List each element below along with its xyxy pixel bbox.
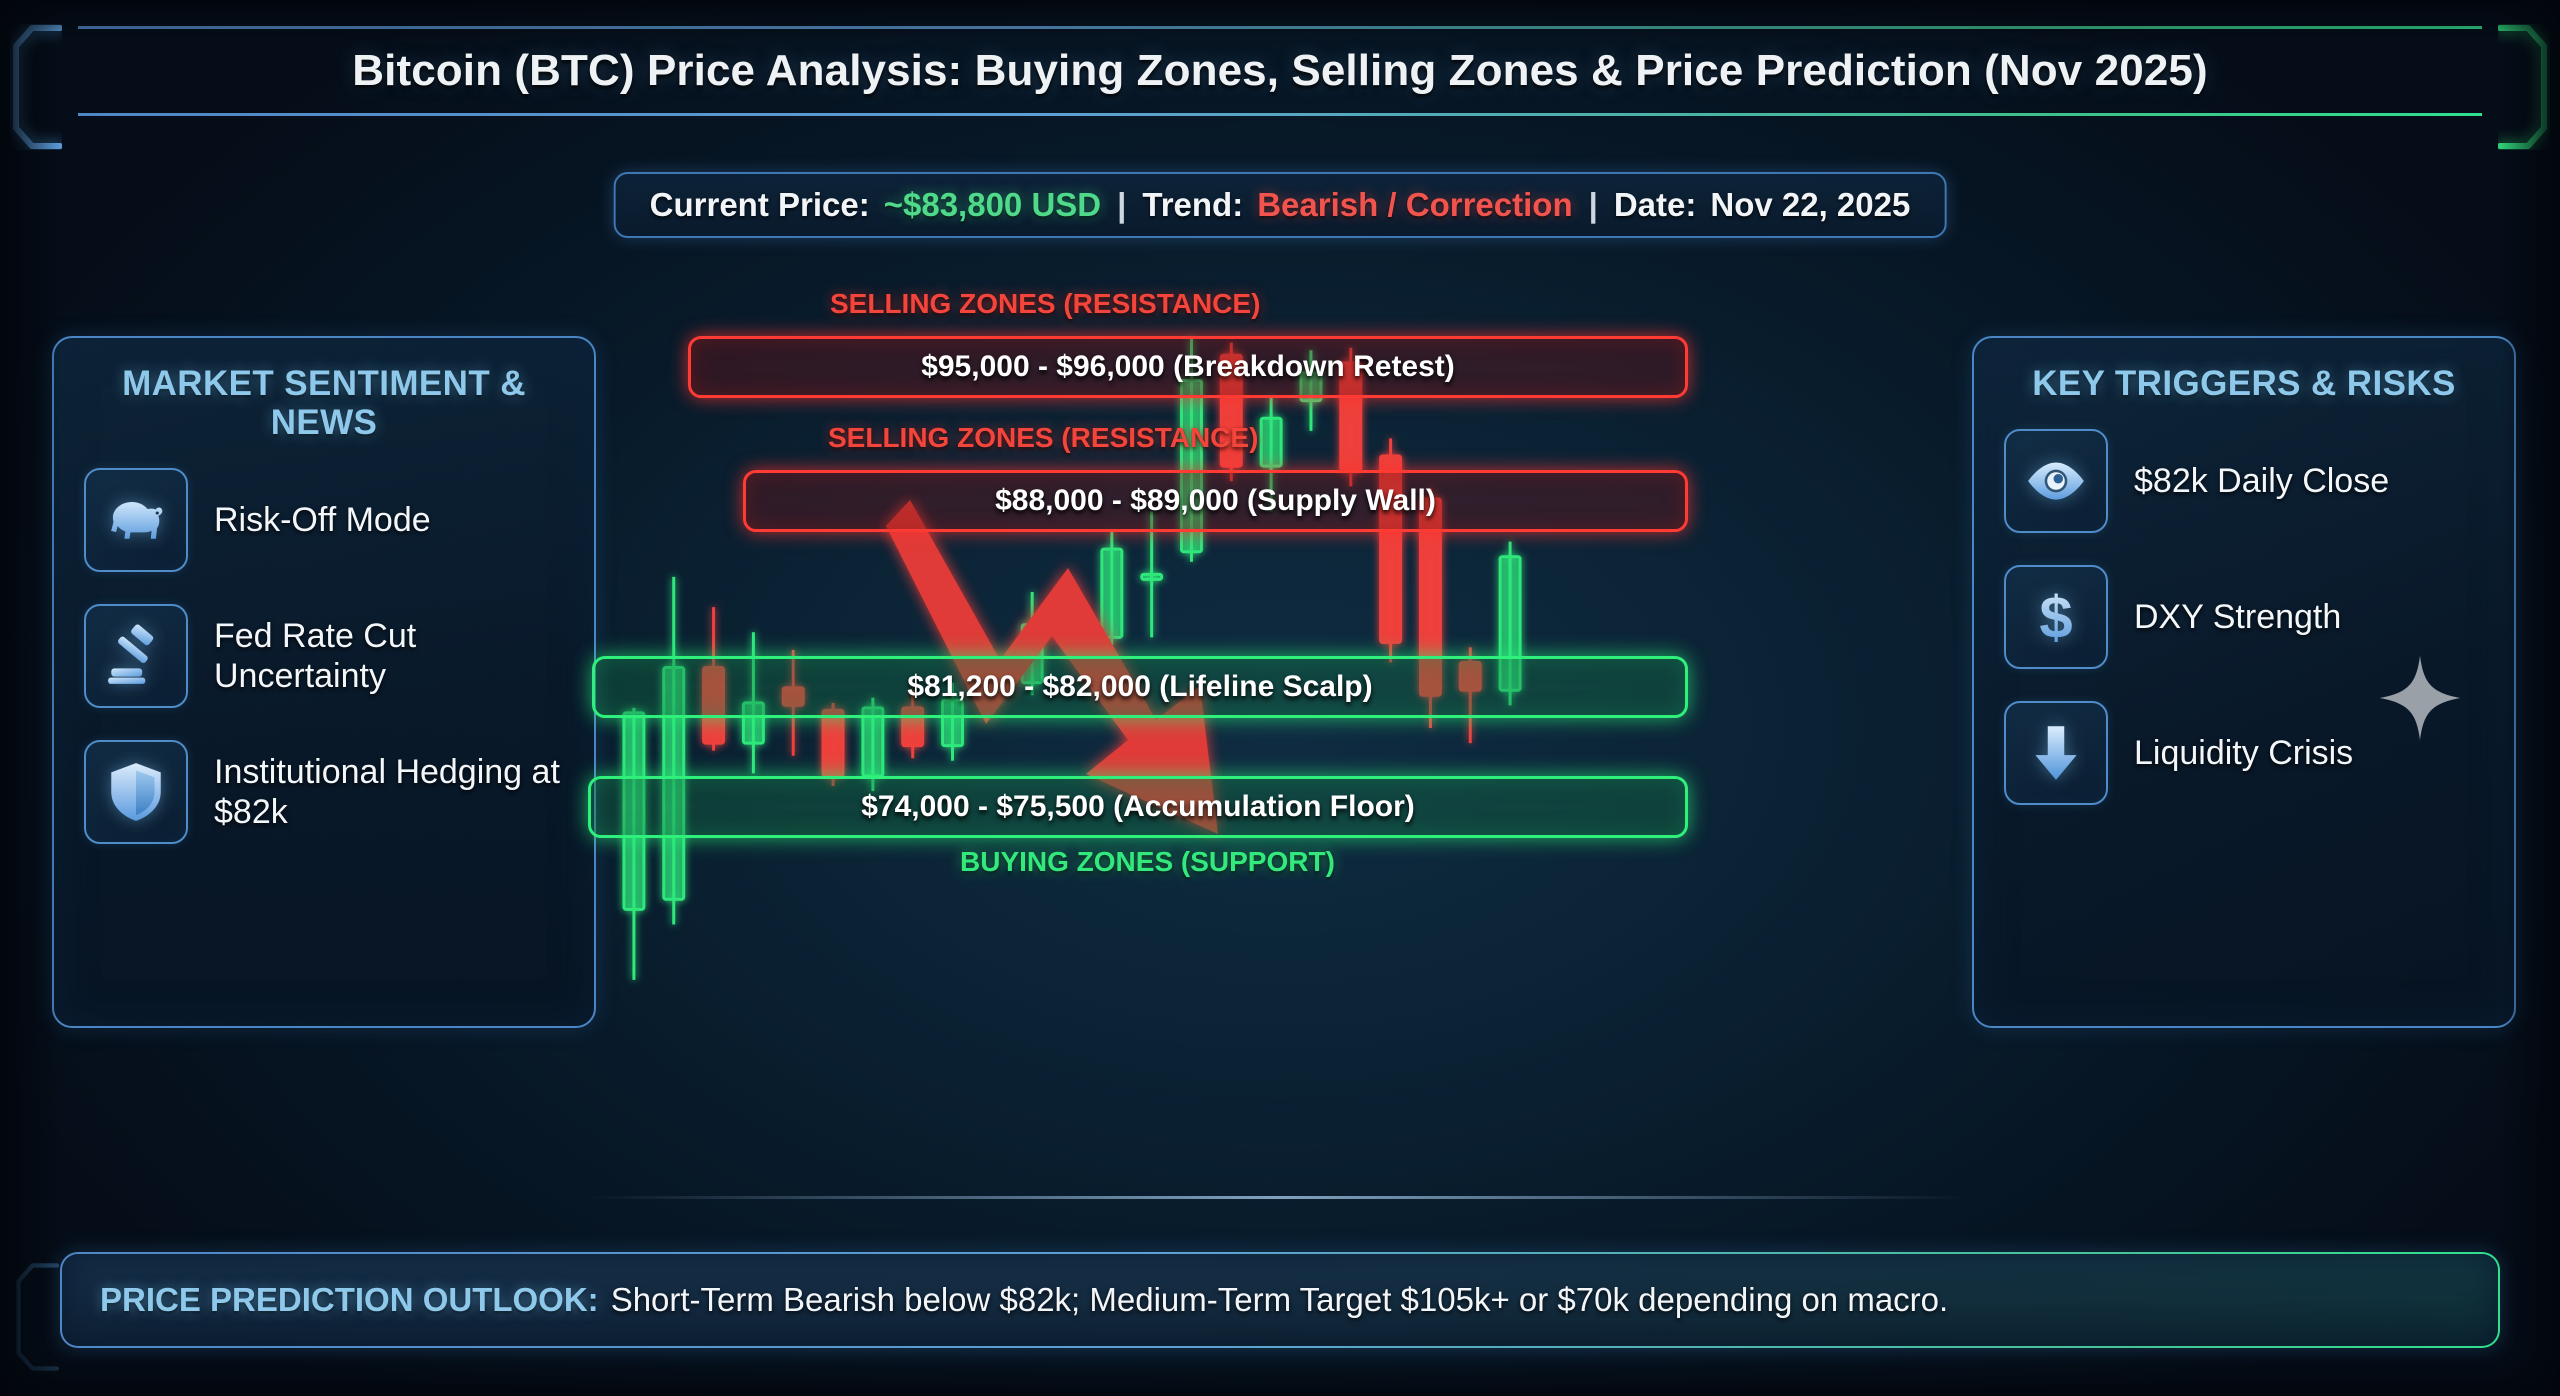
sentiment-item-risk-off[interactable]: Risk-Off Mode — [84, 468, 564, 572]
market-sentiment-title: MARKET SENTIMENT & NEWS — [84, 364, 564, 442]
candlestick-svg — [600, 300, 1960, 1160]
sentiment-item-label: Risk-Off Mode — [214, 500, 431, 540]
chart-divider — [588, 1196, 1968, 1199]
trend-value: Bearish / Correction — [1257, 186, 1572, 224]
trend-label: Trend: — [1142, 186, 1243, 224]
selling-zone-1[interactable]: $95,000 - $96,000 (Breakdown Retest) — [688, 336, 1688, 398]
sentiment-item-label: Institutional Hedging at $82k — [214, 752, 564, 832]
buying-zone-2-label: $74,000 - $75,500 (Accumulation Floor) — [588, 776, 1688, 838]
trigger-item-label: Liquidity Crisis — [2134, 733, 2353, 773]
date-label: Date: — [1614, 186, 1697, 224]
date-value: Nov 22, 2025 — [1710, 186, 1910, 224]
sentiment-item-institutional-hedging[interactable]: Institutional Hedging at $82k — [84, 740, 564, 844]
corner-bracket-bottom-left — [10, 1262, 62, 1372]
buying-zone-1[interactable]: $81,200 - $82,000 (Lifeline Scalp) — [592, 656, 1688, 718]
candlestick-chart: $95,000 - $96,000 (Breakdown Retest) SEL… — [600, 300, 1960, 1160]
eye-icon — [2004, 429, 2108, 533]
page-title: Bitcoin (BTC) Price Analysis: Buying Zon… — [352, 46, 2207, 96]
selling-zone-1-label: $95,000 - $96,000 (Breakdown Retest) — [688, 336, 1688, 398]
key-triggers-title: KEY TRIGGERS & RISKS — [2004, 364, 2484, 403]
status-separator-1: | — [1101, 186, 1142, 224]
buying-zone-1-label: $81,200 - $82,000 (Lifeline Scalp) — [592, 656, 1688, 718]
outlook-key-label: PRICE PREDICTION OUTLOOK: — [100, 1281, 599, 1319]
selling-zone-1-caption: SELLING ZONES (RESISTANCE) — [830, 288, 1260, 320]
candle — [624, 708, 644, 980]
corner-bracket-top-right — [2498, 24, 2550, 150]
dollar-icon: $ — [2004, 565, 2108, 669]
header-bar: Bitcoin (BTC) Price Analysis: Buying Zon… — [78, 26, 2482, 116]
candle — [1102, 532, 1122, 645]
price-prediction-footer: PRICE PREDICTION OUTLOOK: Short-Term Bea… — [60, 1252, 2500, 1348]
down-arrow-icon — [2004, 701, 2108, 805]
status-bar: Current Price: ~$83,800 USD | Trend: Bea… — [614, 172, 1947, 238]
buying-zone-2[interactable]: $74,000 - $75,500 (Accumulation Floor) — [588, 776, 1688, 838]
svg-text:$: $ — [2039, 584, 2072, 650]
selling-zone-2-label: $88,000 - $89,000 (Supply Wall) — [743, 470, 1688, 532]
current-price-label: Current Price: — [650, 186, 870, 224]
sentiment-item-fed-rate[interactable]: Fed Rate Cut Uncertainty — [84, 604, 564, 708]
gavel-icon — [84, 604, 188, 708]
market-sentiment-panel: MARKET SENTIMENT & NEWS Risk-Off Mode — [52, 336, 596, 1028]
status-separator-2: | — [1573, 186, 1614, 224]
sparkle-icon — [2376, 654, 2464, 742]
bear-icon — [84, 468, 188, 572]
trigger-item-daily-close[interactable]: $82k Daily Close — [2004, 429, 2484, 533]
candle — [664, 577, 684, 925]
outlook-text: Short-Term Bearish below $82k; Medium-Te… — [611, 1281, 1949, 1319]
buying-zone-caption: BUYING ZONES (SUPPORT) — [960, 846, 1335, 878]
selling-zone-2[interactable]: $88,000 - $89,000 (Supply Wall) — [743, 470, 1688, 532]
infographic-canvas: Bitcoin (BTC) Price Analysis: Buying Zon… — [0, 0, 2560, 1396]
selling-zone-2-caption: SELLING ZONES (RESISTANCE) — [828, 422, 1258, 454]
current-price-value: ~$83,800 USD — [884, 186, 1101, 224]
sentiment-item-label: Fed Rate Cut Uncertainty — [214, 616, 564, 696]
trigger-item-label: DXY Strength — [2134, 597, 2341, 637]
trigger-item-label: $82k Daily Close — [2134, 461, 2389, 501]
shield-icon — [84, 740, 188, 844]
corner-bracket-top-left — [10, 24, 62, 150]
